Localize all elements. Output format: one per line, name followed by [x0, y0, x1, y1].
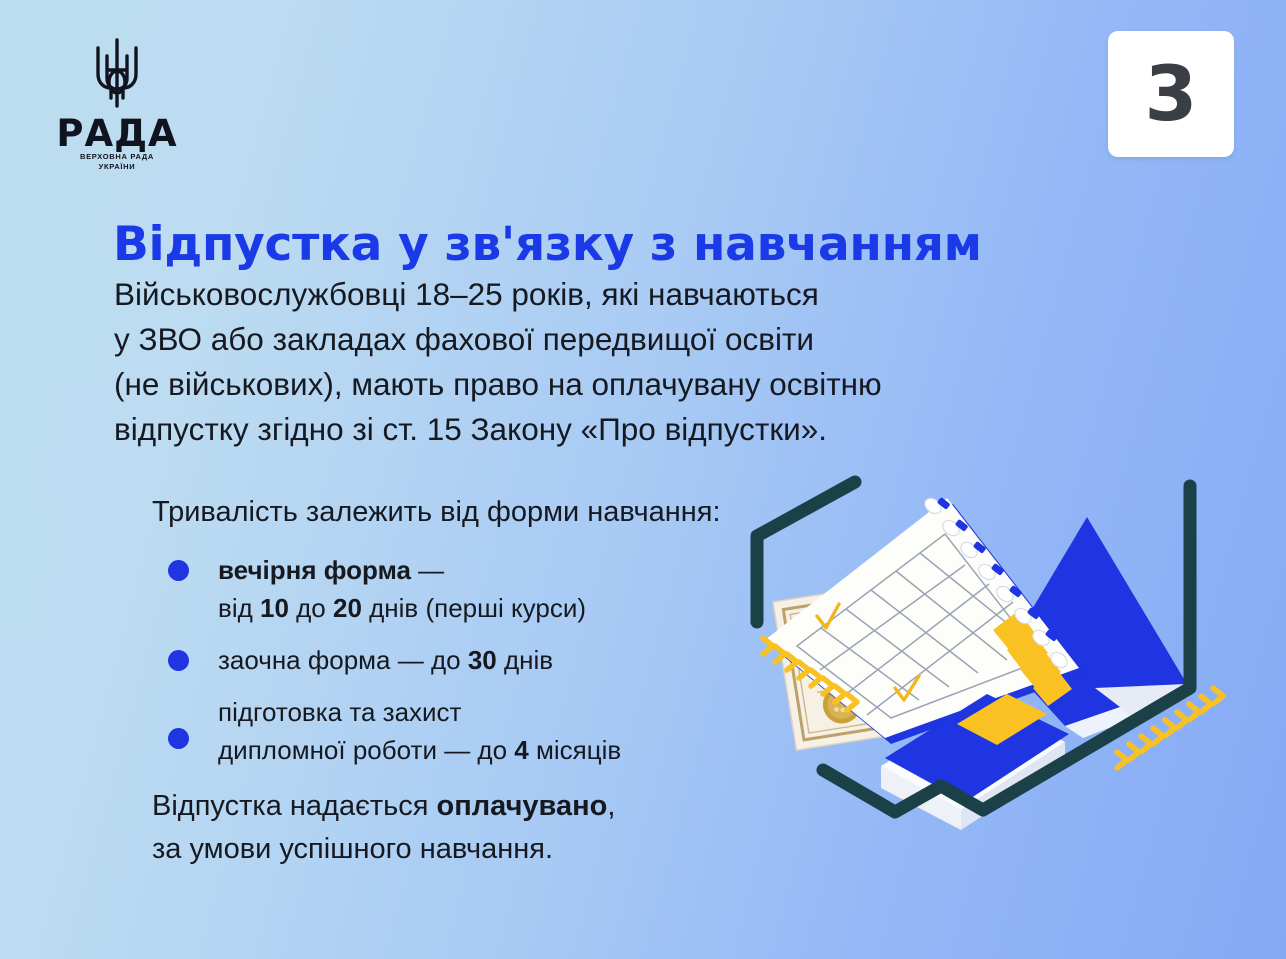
- bullet-2-post: днів: [497, 645, 553, 675]
- bullet-1-line-1: вечірня форма —: [218, 551, 768, 589]
- bullet-3-pre: дипломної роботи — до: [218, 735, 514, 765]
- rada-logo: РАДА ВЕРХОВНА РАДА УКРАЇНИ: [52, 34, 182, 172]
- closing-pre: Відпустка надається: [152, 790, 437, 822]
- bullet-dot-icon: [168, 728, 189, 749]
- closing-line-1: Відпустка надається оплачувано,: [152, 785, 615, 828]
- list-item: заочна форма — до 30 днів: [168, 641, 768, 679]
- page-title: Відпустка у зв'язку з навчанням: [113, 217, 982, 272]
- bullet-2-line-1: заочна форма — до 30 днів: [218, 641, 768, 679]
- intro-line-4: відпустку згідно зі ст. 15 Закону «Про в…: [114, 407, 1124, 452]
- education-illustration: ДИПЛОМ: [735, 470, 1245, 920]
- list-item: вечірня форма — від 10 до 20 днів (перші…: [168, 551, 768, 627]
- bullet-2-pre: заочна форма — до: [218, 645, 468, 675]
- bullet-1-line-2: від 10 до 20 днів (перші курси): [218, 589, 768, 627]
- closing-statement: Відпустка надається оплачувано, за умови…: [152, 785, 615, 871]
- bullet-3-post: місяців: [529, 735, 621, 765]
- logo-wordmark: РАДА: [52, 115, 182, 152]
- intro-paragraph: Військовослужбовці 18–25 років, які навч…: [114, 272, 1124, 452]
- closing-emphasis: оплачувано: [437, 790, 608, 822]
- bullet-1-dash: —: [411, 555, 444, 585]
- bullet-1-value-max: 20: [333, 593, 362, 623]
- bullet-2-value: 30: [468, 645, 497, 675]
- infographic-poster: РАДА ВЕРХОВНА РАДА УКРАЇНИ 3 Відпустка у…: [0, 0, 1286, 959]
- slide-number: 3: [1145, 56, 1198, 132]
- list-item: підготовка та захист дипломної роботи — …: [168, 693, 768, 769]
- bullet-1-value-min: 10: [260, 593, 289, 623]
- list-sub-heading: Тривалість залежить від форми навчання:: [152, 496, 721, 529]
- closing-line-2: за умови успішного навчання.: [152, 828, 615, 871]
- intro-line-3: (не військових), мають право на оплачува…: [114, 362, 1124, 407]
- slide-number-badge: 3: [1108, 31, 1234, 157]
- bullet-1-pre: від: [218, 593, 260, 623]
- bullet-dot-icon: [168, 560, 189, 581]
- logo-subtitle-line2: УКРАЇНИ: [52, 162, 182, 172]
- duration-list: вечірня форма — від 10 до 20 днів (перші…: [168, 551, 768, 783]
- intro-line-1: Військовослужбовці 18–25 років, які навч…: [114, 272, 1124, 317]
- bullet-3-line-1: підготовка та захист: [218, 693, 768, 731]
- bullet-3-value: 4: [514, 735, 528, 765]
- bullet-1-post: днів (перші курси): [362, 593, 586, 623]
- ukrainian-trident-icon: [84, 34, 150, 112]
- bullet-1-bold: вечірня форма: [218, 555, 411, 585]
- intro-line-2: у ЗВО або закладах фахової передвищої ос…: [114, 317, 1124, 362]
- bullet-1-mid: до: [289, 593, 333, 623]
- closing-post: ,: [607, 790, 615, 822]
- bullet-dot-icon: [168, 650, 189, 671]
- bullet-3-line-2: дипломної роботи — до 4 місяців: [218, 731, 768, 769]
